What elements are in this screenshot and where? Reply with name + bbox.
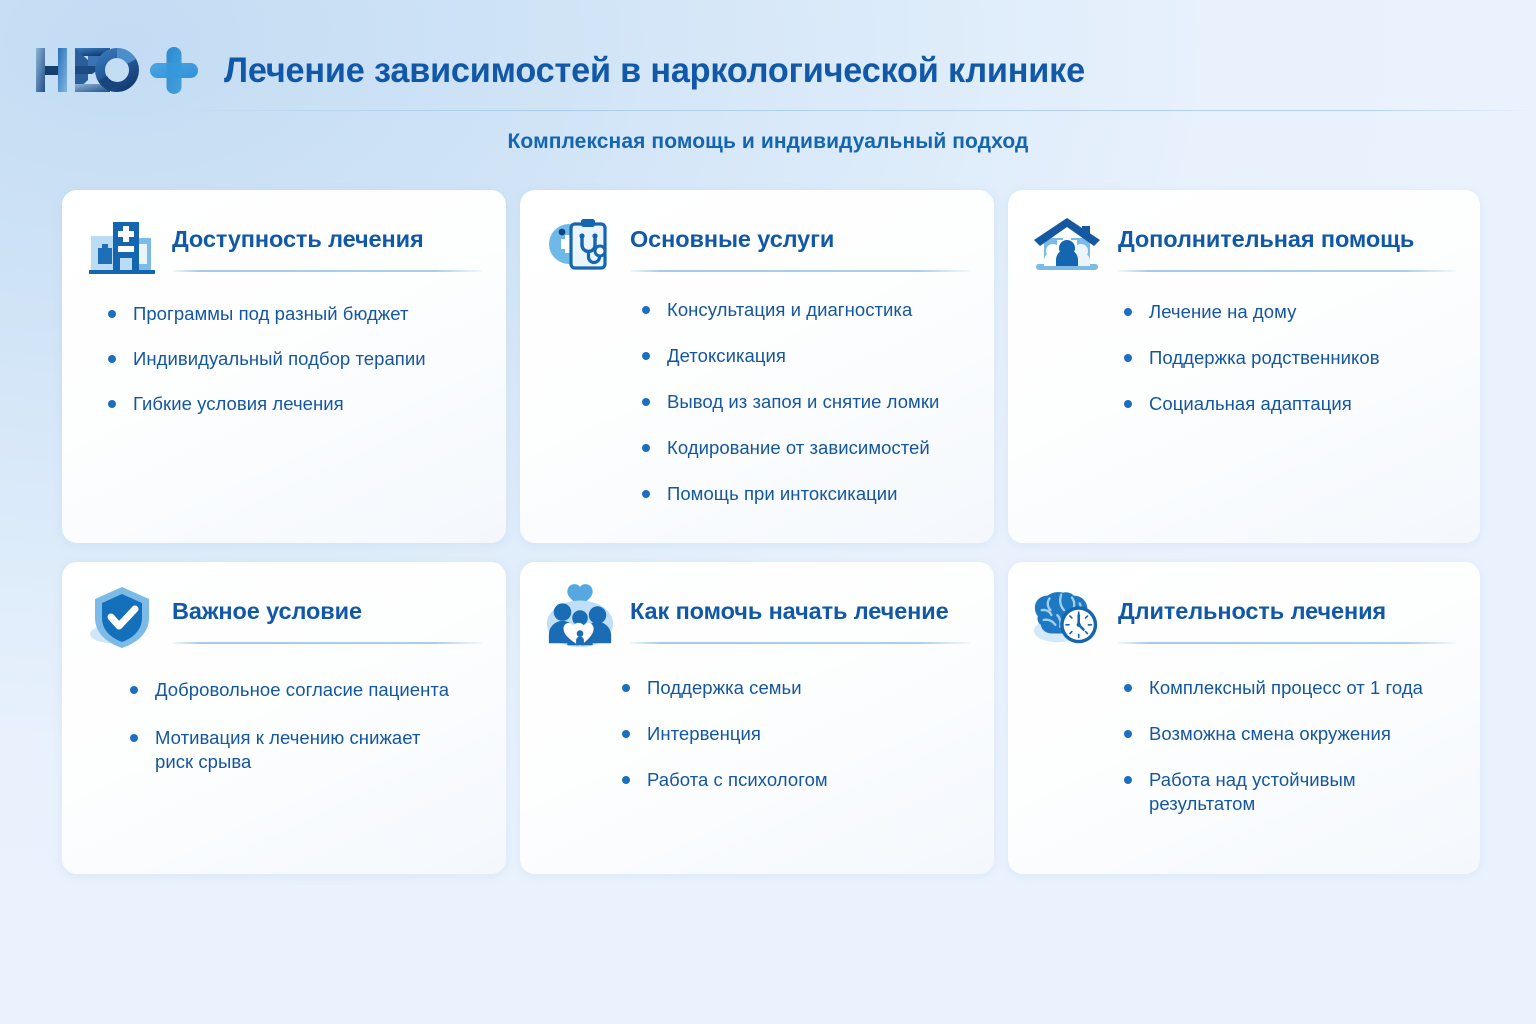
card-bullet-list: Программы под разный бюджет Индивидуальн…: [86, 302, 482, 416]
list-item: Добровольное согласие пациента: [130, 678, 482, 702]
list-item: Программы под разный бюджет: [108, 302, 482, 326]
title-divider: [630, 270, 970, 272]
list-item: Мотивация к лечению снижает риск срыва: [130, 726, 440, 774]
card-title: Важное условие: [172, 598, 482, 625]
list-item: Работа с психологом: [622, 768, 970, 792]
neo-plus-logo: [34, 41, 206, 99]
title-divider: [1118, 642, 1456, 644]
list-item-text: Программы под разный бюджет: [133, 303, 408, 324]
list-item-text: Индивидуальный подбор терапии: [133, 348, 426, 369]
bullet-dot: [622, 684, 630, 692]
list-item: Вывод из запоя и снятие ломки: [642, 390, 970, 414]
header-divider: [175, 110, 1536, 111]
card-bullet-list: Комплексный процесс от 1 года Возможна с…: [1032, 676, 1456, 816]
bullet-dot: [1124, 400, 1132, 408]
list-item: Интервенция: [622, 722, 970, 746]
bullet-dot: [1124, 776, 1132, 784]
title-divider: [1118, 270, 1456, 272]
list-item-text: Добровольное согласие пациента: [155, 679, 449, 700]
bullet-dot: [1124, 684, 1132, 692]
list-item-text: Комплексный процесс от 1 года: [1149, 677, 1423, 698]
card-bullet-list: Поддержка семьи Интервенция Работа с пси…: [544, 676, 970, 792]
card-dlitelnost-lecheniya[interactable]: Длительность лечения Комплексный процесс…: [1008, 562, 1480, 874]
list-item-text: Лечение на дому: [1149, 301, 1296, 322]
list-item: Социальная адаптация: [1124, 392, 1456, 416]
shield-check-icon: [86, 584, 158, 650]
card-title: Основные услуги: [630, 226, 970, 253]
list-item: Гибкие условия лечения: [108, 392, 482, 416]
list-item: Кодирование от зависимостей: [642, 436, 970, 460]
list-item-text: Социальная адаптация: [1149, 393, 1352, 414]
card-title: Как помочь начать лечение: [630, 598, 970, 625]
list-item: Помощь при интоксикации: [642, 482, 970, 506]
bullet-dot: [642, 444, 650, 452]
list-item: Комплексный процесс от 1 года: [1124, 676, 1456, 700]
card-header: Дополнительная помощь: [1032, 212, 1456, 278]
brain-clock-icon: [1032, 584, 1104, 650]
card-kak-pomoch-nachat-lechenie[interactable]: Как помочь начать лечение Поддержка семь…: [520, 562, 994, 874]
list-item-text: Консультация и диагностика: [667, 299, 912, 320]
list-item-text: Работа над устойчивым результатом: [1149, 769, 1356, 814]
card-vazhnoe-uslovie[interactable]: Важное условие Добровольное согласие пац…: [62, 562, 506, 874]
list-item-text: Вывод из запоя и снятие ломки: [667, 391, 939, 412]
card-bullet-list: Консультация и диагностика Детоксикация …: [544, 298, 970, 506]
list-item-text: Поддержка родственников: [1149, 347, 1380, 368]
bullet-dot: [1124, 730, 1132, 738]
list-item-text: Кодирование от зависимостей: [667, 437, 930, 458]
list-item-text: Возможна смена окружения: [1149, 723, 1391, 744]
bullet-dot: [108, 310, 116, 318]
title-divider: [172, 270, 482, 272]
list-item: Поддержка семьи: [622, 676, 970, 700]
family-heart-icon: [544, 584, 616, 650]
list-item: Лечение на дому: [1124, 300, 1456, 324]
bullet-dot: [108, 400, 116, 408]
cards-grid: Доступность лечения Программы под разный…: [62, 190, 1466, 874]
list-item: Поддержка родственников: [1124, 346, 1456, 370]
card-title: Доступность лечения: [172, 226, 482, 253]
bullet-dot: [622, 730, 630, 738]
hospital-building-icon: [86, 212, 158, 278]
card-header: Доступность лечения: [86, 212, 482, 278]
list-item: Детоксикация: [642, 344, 970, 368]
clipboard-stethoscope-icon: [544, 212, 616, 278]
list-item: Индивидуальный подбор терапии: [108, 347, 482, 371]
list-item-text: Мотивация к лечению снижает риск срыва: [155, 727, 420, 772]
bullet-dot: [1124, 354, 1132, 362]
list-item-text: Работа с психологом: [647, 769, 828, 790]
bullet-dot: [108, 355, 116, 363]
bullet-dot: [642, 398, 650, 406]
page-header: Лечение зависимостей в наркологической к…: [0, 0, 1536, 112]
bullet-dot: [622, 776, 630, 784]
card-osnovnye-uslugi[interactable]: Основные услуги Консультация и диагности…: [520, 190, 994, 543]
page-title: Лечение зависимостей в наркологической к…: [224, 50, 1085, 91]
card-header: Как помочь начать лечение: [544, 584, 970, 650]
card-header: Длительность лечения: [1032, 584, 1456, 650]
card-dostupnost-lecheniya[interactable]: Доступность лечения Программы под разный…: [62, 190, 506, 543]
page-subtitle: Комплексная помощь и индивидуальный подх…: [0, 130, 1536, 154]
list-item: Консультация и диагностика: [642, 298, 970, 322]
list-item: Работа над устойчивым результатом: [1124, 768, 1456, 816]
card-title: Длительность лечения: [1118, 598, 1456, 625]
bullet-dot: [130, 734, 138, 742]
card-header: Важное условие: [86, 584, 482, 650]
bullet-dot: [642, 306, 650, 314]
card-header: Основные услуги: [544, 212, 970, 278]
list-item: Возможна смена окружения: [1124, 722, 1456, 746]
title-divider: [172, 642, 482, 644]
bullet-dot: [1124, 308, 1132, 316]
bullet-dot: [642, 490, 650, 498]
list-item-text: Помощь при интоксикации: [667, 483, 898, 504]
title-divider: [630, 642, 970, 644]
card-title: Дополнительная помощь: [1118, 226, 1456, 253]
list-item-text: Детоксикация: [667, 345, 786, 366]
list-item-text: Интервенция: [647, 723, 761, 744]
bullet-dot: [130, 686, 138, 694]
house-family-cross-icon: [1032, 212, 1104, 278]
card-dopolnitelnaya-pomoshch[interactable]: Дополнительная помощь Лечение на дому По…: [1008, 190, 1480, 543]
card-bullet-list: Добровольное согласие пациента Мотивация…: [86, 678, 482, 774]
card-bullet-list: Лечение на дому Поддержка родственников …: [1032, 300, 1456, 416]
list-item-text: Гибкие условия лечения: [133, 393, 344, 414]
list-item-text: Поддержка семьи: [647, 677, 802, 698]
bullet-dot: [642, 352, 650, 360]
